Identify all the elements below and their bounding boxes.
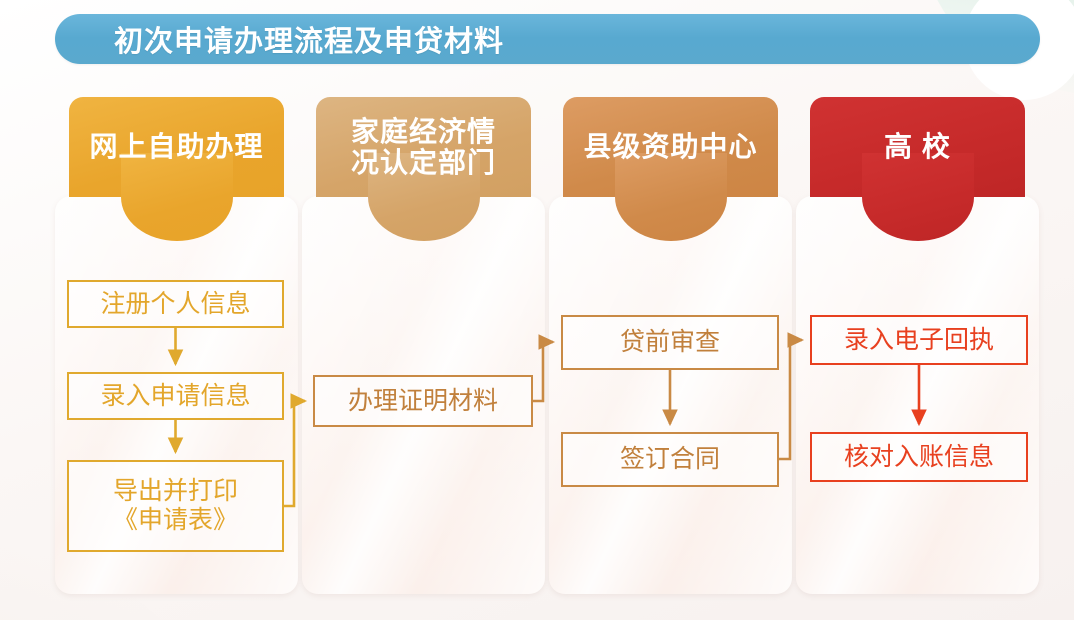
process-box-verify-deposit-info[interactable]: 核对入账信息: [810, 432, 1028, 482]
column-header-university: 高 校: [810, 97, 1025, 197]
column-panel-county-funding-center: [549, 196, 792, 594]
process-box-label: 录入申请信息: [100, 382, 250, 411]
process-box-label: 办理证明材料: [348, 387, 498, 416]
column-header-online-self-service: 网上自助办理: [69, 97, 284, 197]
process-box-enter-application-info[interactable]: 录入申请信息: [67, 372, 284, 420]
process-box-label: 签订合同: [620, 445, 720, 474]
process-box-register-personal-info[interactable]: 注册个人信息: [67, 280, 284, 328]
flowchart-diagram: 初次申请办理流程及申贷材料 网上自助办理 家庭经济情 况认定部门 县级资助中心 …: [0, 0, 1074, 620]
process-box-label: 录入电子回执: [844, 326, 994, 355]
process-box-preloan-review[interactable]: 贷前审查: [561, 315, 779, 370]
process-box-enter-electronic-receipt[interactable]: 录入电子回执: [810, 315, 1028, 365]
process-box-label: 注册个人信息: [100, 290, 250, 319]
process-box-label: 贷前审查: [620, 328, 720, 357]
process-box-sign-contract[interactable]: 签订合同: [561, 432, 779, 487]
column-header-label: 县级资助中心: [583, 131, 757, 162]
column-panel-university: [796, 196, 1039, 594]
process-box-export-print-form[interactable]: 导出并打印 《申请表》: [67, 460, 284, 552]
column-header-family-economic-assessment: 家庭经济情 况认定部门: [316, 97, 531, 197]
process-box-label: 导出并打印 《申请表》: [113, 477, 238, 535]
process-box-label: 核对入账信息: [844, 443, 994, 472]
column-header-label: 高 校: [884, 131, 951, 162]
process-box-obtain-proof-materials[interactable]: 办理证明材料: [313, 375, 533, 427]
column-header-label: 家庭经济情 况认定部门: [351, 116, 496, 179]
column-header-county-funding-center: 县级资助中心: [563, 97, 778, 197]
column-header-label: 网上自助办理: [89, 131, 263, 162]
